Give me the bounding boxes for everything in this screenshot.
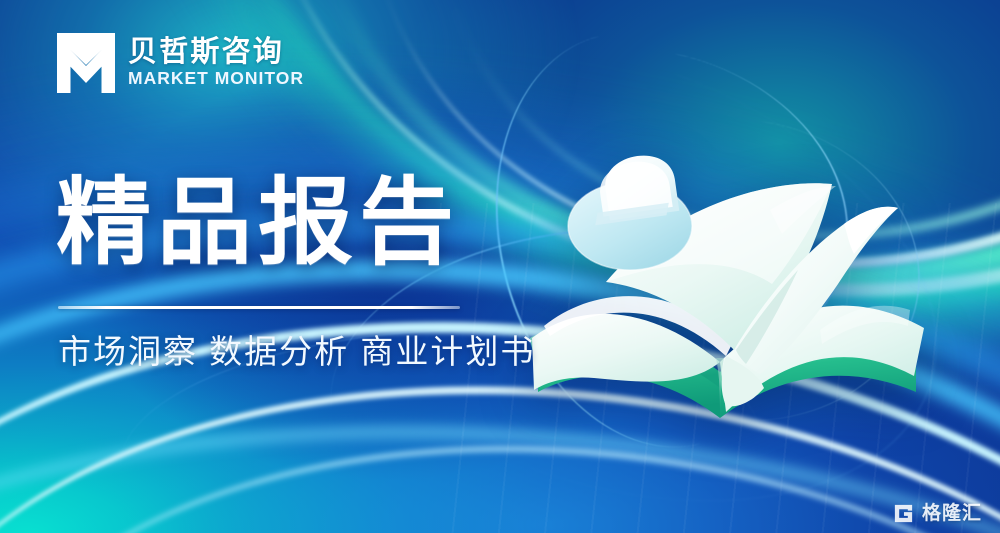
report-banner: 贝哲斯咨询 MARKET MONITOR 精品报告 市场洞察 数据分析 商业计划… <box>0 0 1000 533</box>
title-divider <box>58 306 460 309</box>
headline-block: 精品报告 <box>56 176 460 271</box>
page-title: 精品报告 <box>56 176 460 271</box>
page-subtitle: 市场洞察 数据分析 商业计划书 <box>58 330 535 375</box>
brand-name-cn: 贝哲斯咨询 <box>128 38 304 67</box>
open-book-illustration <box>520 150 940 440</box>
gelonghui-g-mark-icon <box>892 502 915 525</box>
brand-logo: 贝哲斯咨询 MARKET MONITOR <box>57 33 304 93</box>
market-monitor-m-mark-icon <box>57 33 115 93</box>
watermark: 格隆汇 <box>892 502 982 525</box>
brand-name-en: MARKET MONITOR <box>128 70 304 88</box>
watermark-label: 格隆汇 <box>922 504 982 523</box>
